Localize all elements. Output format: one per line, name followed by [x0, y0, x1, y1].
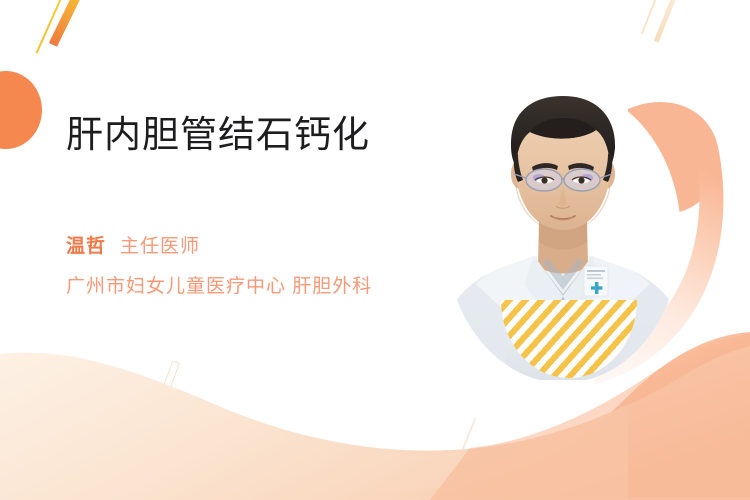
page-title: 肝内胆管结石钙化 — [66, 112, 456, 157]
orange-circle-decoration — [0, 71, 42, 149]
text-block: 肝内胆管结石钙化 温哲 主任医师 广州市妇女儿童医疗中心 肝胆外科 — [66, 112, 456, 298]
doctor-rank: 主任医师 — [120, 231, 200, 258]
peach-diagonal-stripe-icon — [654, 0, 683, 43]
title-card: 肝内胆管结石钙化 温哲 主任医师 广州市妇女儿童医疗中心 肝胆外科 — [0, 0, 750, 500]
doctor-name: 温哲 — [66, 231, 106, 258]
byline: 温哲 主任医师 广州市妇女儿童医疗中心 肝胆外科 — [66, 231, 456, 298]
byline-row: 温哲 主任医师 — [66, 231, 456, 258]
orange-diagonal-stripe-icon — [49, 0, 84, 47]
bottom-wave-decoration — [0, 330, 750, 500]
doctor-affiliation: 广州市妇女儿童医疗中心 肝胆外科 — [66, 271, 456, 298]
